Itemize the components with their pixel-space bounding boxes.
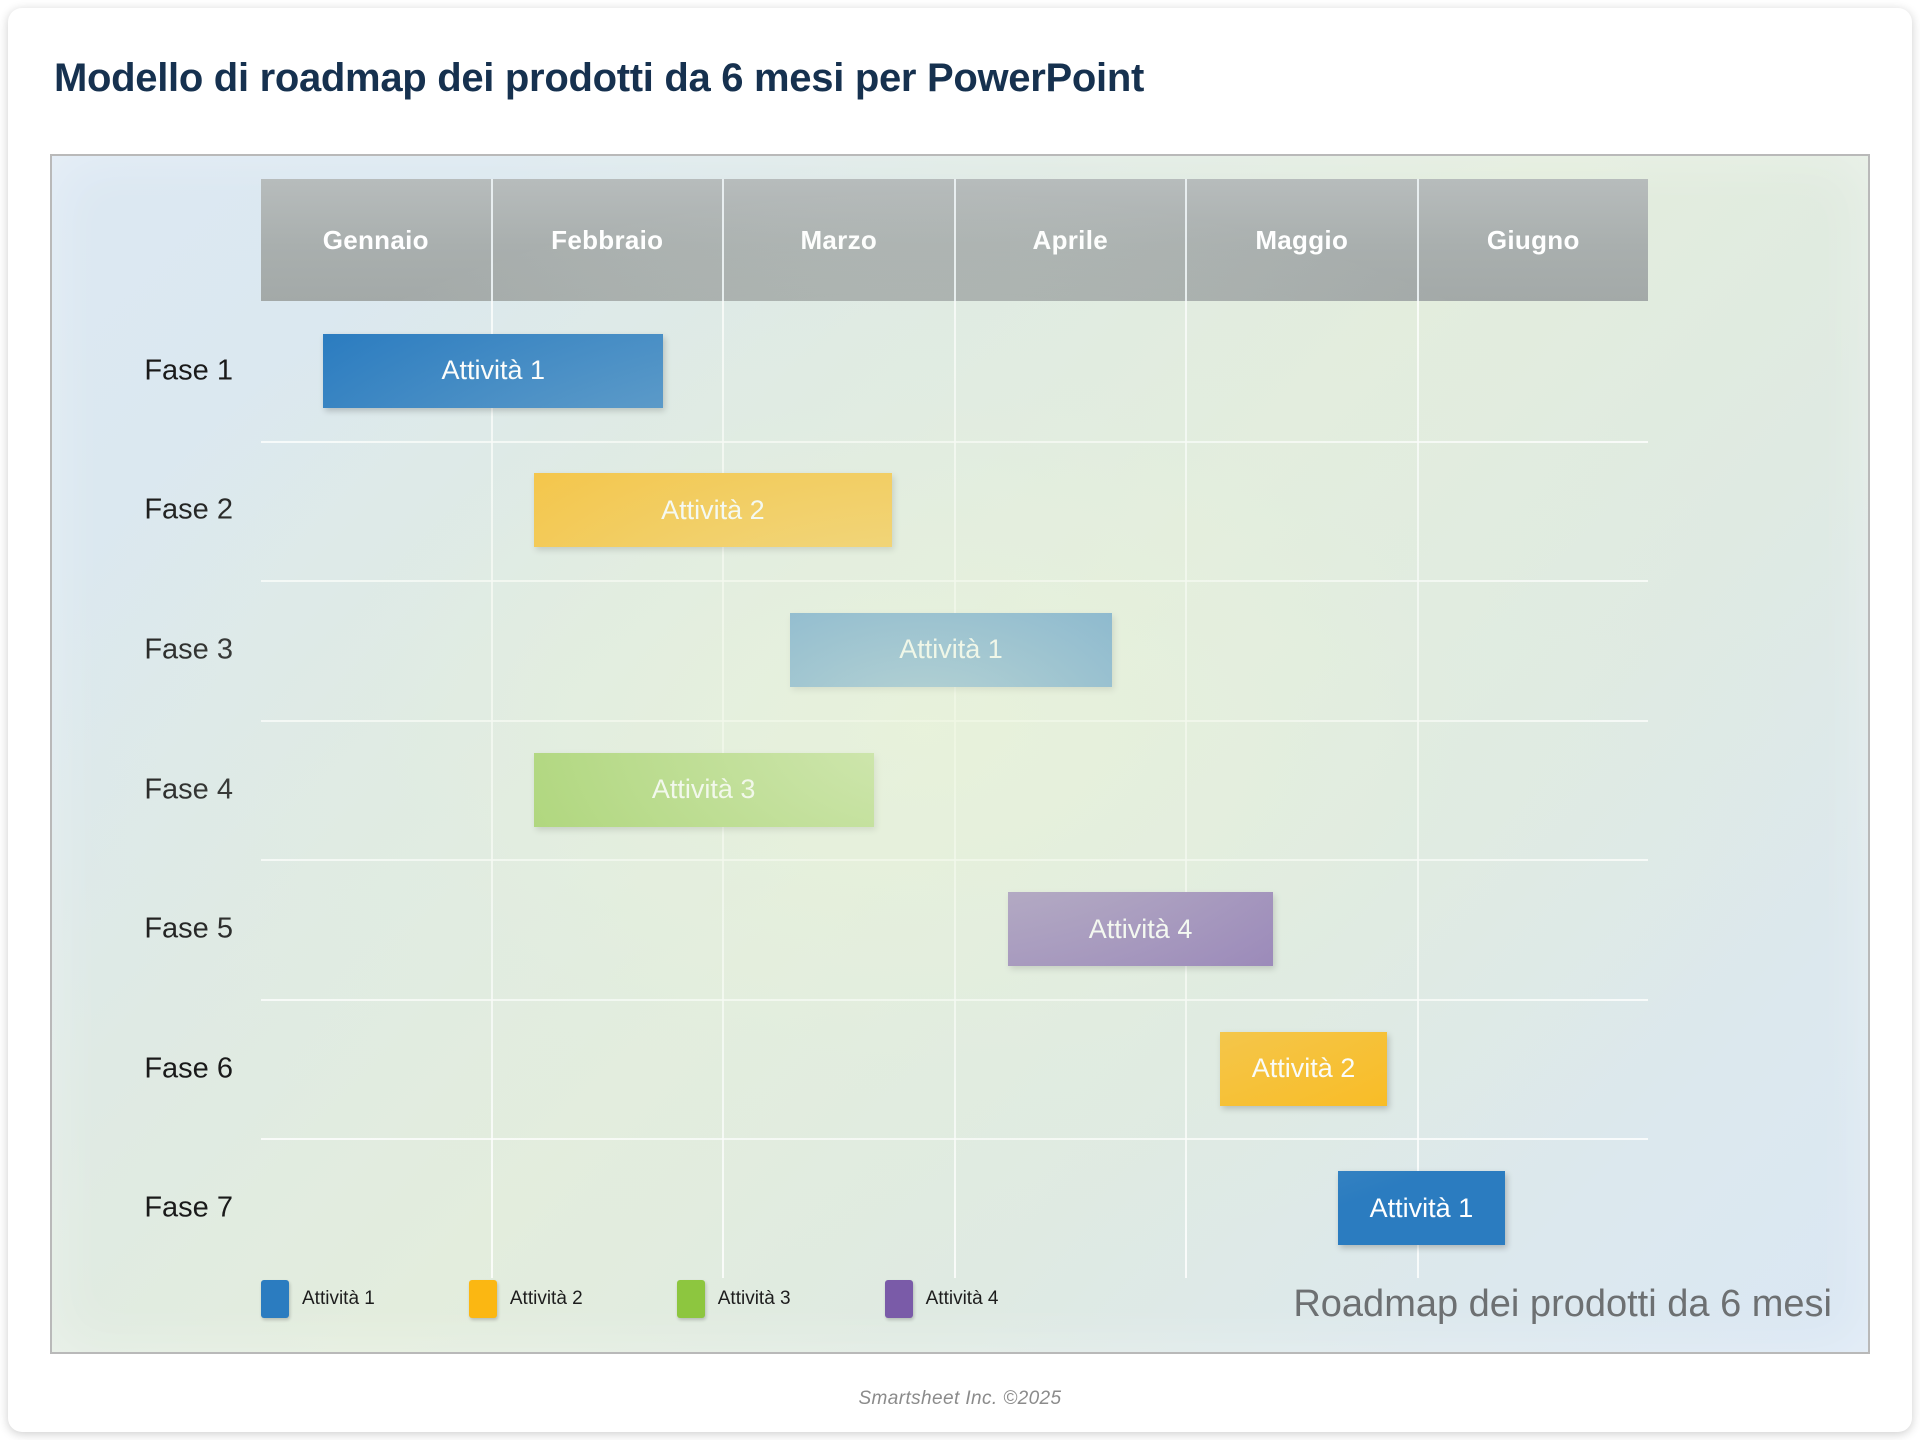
chart-caption: Roadmap dei prodotti da 6 mesi [1293,1283,1832,1326]
legend-item-1[interactable]: Attività 1 [261,1280,375,1318]
phase-label-1: Fase 1 [53,354,233,387]
row-gridlines [261,301,1648,1278]
phase-label-3: Fase 3 [53,633,233,666]
legend-label-2: Attività 2 [510,1288,583,1310]
legend-swatch-icon-3 [677,1280,705,1318]
gridline-row-3 [261,720,1648,722]
task-bar-5[interactable]: Attività 4 [1008,892,1274,966]
month-header-aprile: Aprile [956,179,1188,301]
page-title: Modello di roadmap dei prodotti da 6 mes… [54,56,1144,101]
task-bar-1[interactable]: Attività 1 [323,334,663,408]
phase-label-5: Fase 5 [53,913,233,946]
slide: Modello di roadmap dei prodotti da 6 mes… [8,8,1912,1432]
legend-label-1: Attività 1 [302,1288,375,1310]
legend-item-2[interactable]: Attività 2 [469,1280,583,1318]
legend-label-4: Attività 4 [926,1288,999,1310]
roadmap-panel: GennaioFebbraioMarzoAprileMaggioGiugno F… [50,154,1870,1354]
month-header-febbraio: Febbraio [493,179,725,301]
task-bar-7[interactable]: Attività 1 [1338,1171,1504,1245]
phase-label-6: Fase 6 [53,1052,233,1085]
gridline-row-1 [261,441,1648,443]
phase-label-4: Fase 4 [53,773,233,806]
footer-copyright: Smartsheet Inc. ©2025 [8,1388,1912,1410]
legend-item-3[interactable]: Attività 3 [677,1280,791,1318]
task-bar-2[interactable]: Attività 2 [534,473,892,547]
phase-label-7: Fase 7 [53,1192,233,1225]
legend-swatch-icon-4 [885,1280,913,1318]
month-header-giugno: Giugno [1419,179,1649,301]
legend: Attività 1Attività 2Attività 3Attività 4 [261,1280,999,1318]
task-bar-4[interactable]: Attività 3 [534,753,874,827]
gridline-row-5 [261,999,1648,1001]
legend-item-4[interactable]: Attività 4 [885,1280,999,1318]
gridline-row-2 [261,580,1648,582]
legend-swatch-icon-1 [261,1280,289,1318]
gantt-body [261,301,1648,1278]
task-bar-3[interactable]: Attività 1 [790,613,1111,687]
phase-label-2: Fase 2 [53,494,233,527]
task-bar-6[interactable]: Attività 2 [1220,1032,1386,1106]
legend-swatch-icon-2 [469,1280,497,1318]
month-header-marzo: Marzo [724,179,956,301]
gridline-row-4 [261,859,1648,861]
month-header-maggio: Maggio [1187,179,1419,301]
legend-label-3: Attività 3 [718,1288,791,1310]
month-header-gennaio: Gennaio [261,179,493,301]
phase-label-column: Fase 1Fase 2Fase 3Fase 4Fase 5Fase 6Fase… [52,301,247,1278]
gridline-row-6 [261,1138,1648,1140]
month-header-row: GennaioFebbraioMarzoAprileMaggioGiugno [261,179,1648,301]
